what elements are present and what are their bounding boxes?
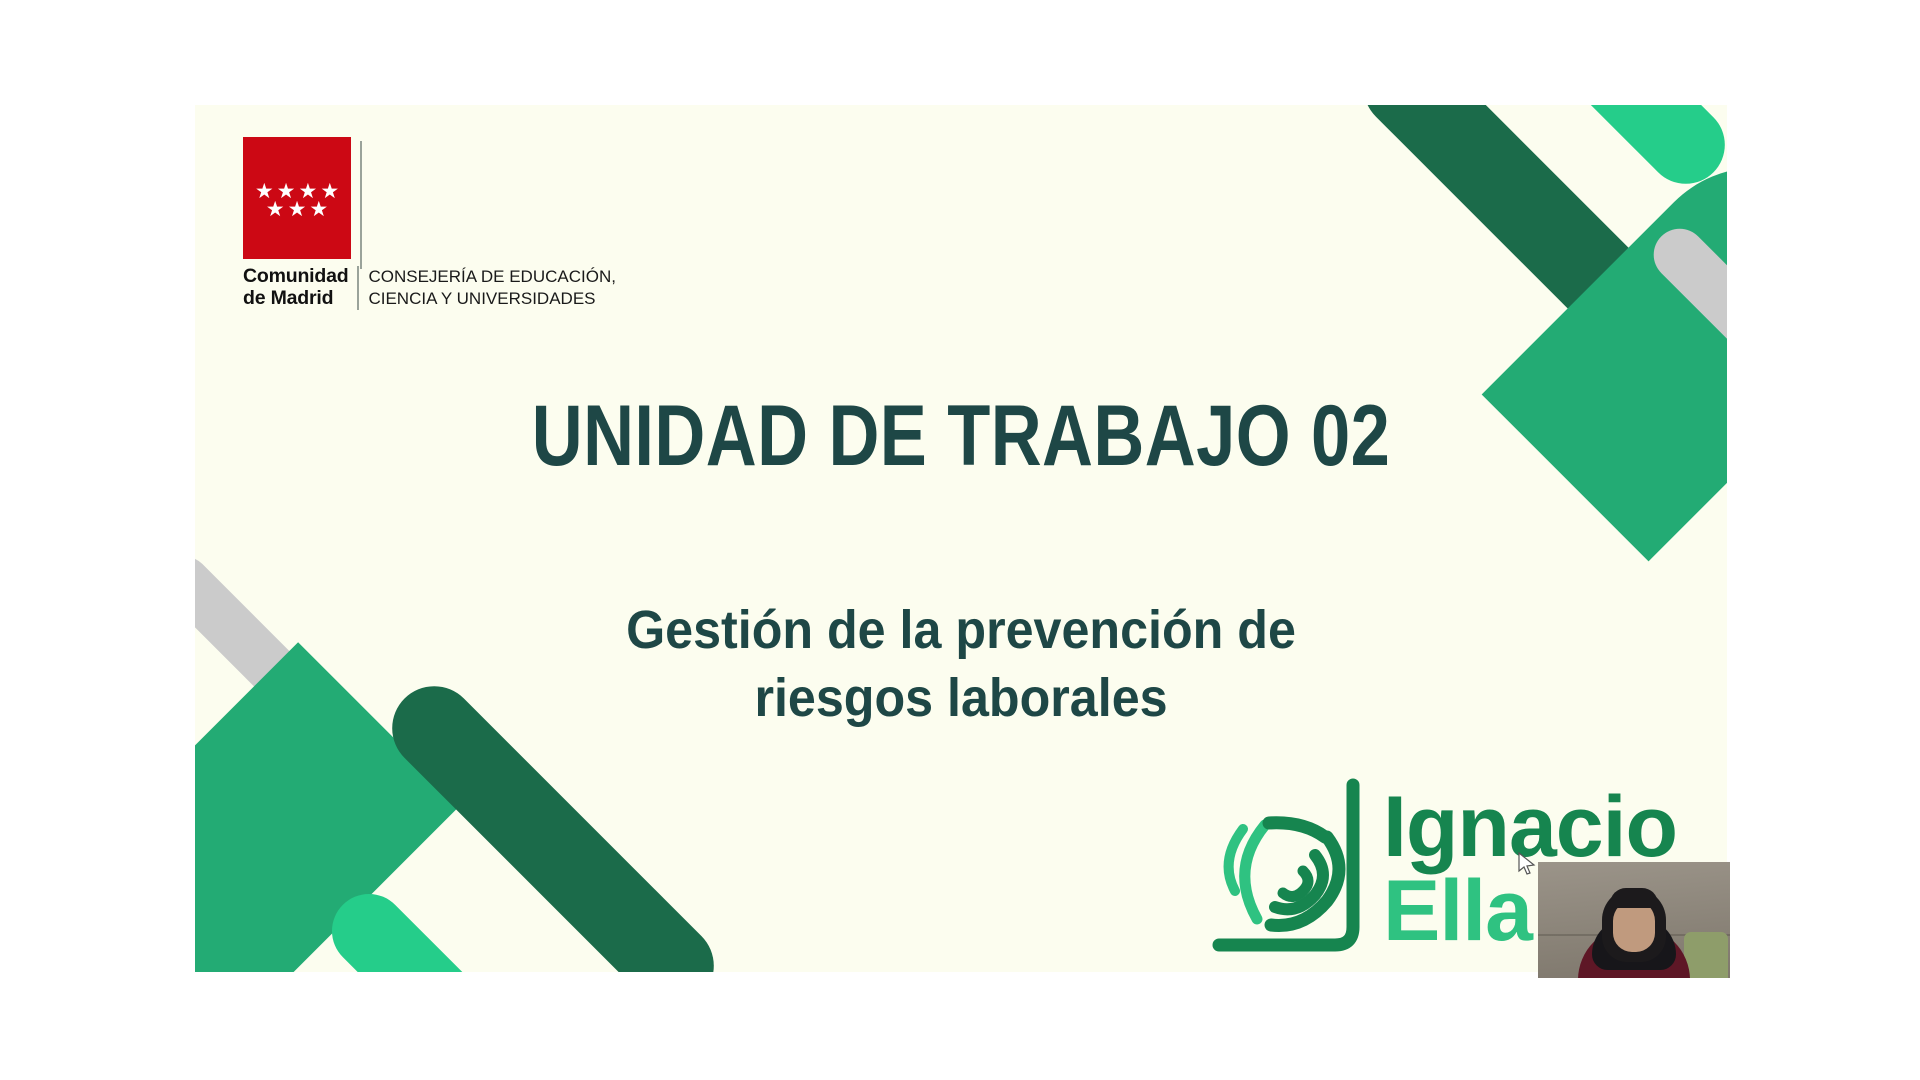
consejeria-line2: CIENCIA Y UNIVERSIDADES: [368, 288, 616, 310]
bar-mint-bottom-left: [317, 879, 504, 972]
madrid-logo-text: Comunidad de Madrid CONSEJERÍA DE EDUCAC…: [243, 266, 616, 310]
madrid-name: Comunidad de Madrid: [243, 266, 357, 310]
star-icon: ★: [309, 202, 328, 219]
webcam-chair: [1684, 932, 1728, 978]
mouse-pointer-icon: [1518, 852, 1538, 878]
star-row-lower: ★ ★ ★: [266, 202, 328, 219]
madrid-text-divider: [357, 266, 359, 310]
presentation-viewer: ★ ★ ★ ★ ★ ★ ★ Comunidad de Madrid: [0, 0, 1920, 1080]
bar-mint-top-right: [1509, 105, 1727, 200]
madrid-flag-icon: ★ ★ ★ ★ ★ ★ ★: [243, 137, 351, 259]
bar-gray-bottom-left: [195, 546, 397, 793]
logo-vertical-rule: [360, 141, 362, 269]
star-icon: ★: [266, 202, 285, 219]
consejeria-name: CONSEJERÍA DE EDUCACIÓN, CIENCIA Y UNIVE…: [368, 266, 616, 310]
slide-subtitle-line2: riesgos laborales: [533, 665, 1389, 733]
spiral-fingerprint-icon: [1205, 777, 1373, 962]
slide-canvas: ★ ★ ★ ★ ★ ★ ★ Comunidad de Madrid: [195, 105, 1727, 972]
webcam-person-fringe: [1610, 888, 1658, 908]
comunidad-de-madrid-logo: ★ ★ ★ ★ ★ ★ ★ Comunidad de Madrid: [243, 137, 616, 310]
blob-green-top-right: [1482, 119, 1727, 562]
slide-subtitle-line1: Gestión de la prevención de: [533, 597, 1389, 665]
slide-subtitle: Gestión de la prevención de riesgos labo…: [533, 597, 1389, 732]
madrid-name-line1: Comunidad: [243, 266, 348, 288]
consejeria-line1: CONSEJERÍA DE EDUCACIÓN,: [368, 266, 616, 288]
bar-gray-top-right: [1643, 218, 1727, 488]
bar-dark-green-top-right: [1346, 105, 1711, 390]
madrid-name-line2: de Madrid: [243, 288, 348, 310]
star-icon: ★: [288, 202, 307, 219]
blob-green-bottom-left: [195, 642, 461, 972]
presenter-webcam[interactable]: [1538, 862, 1730, 978]
slide-title: UNIDAD DE TRABAJO 02: [333, 387, 1589, 486]
